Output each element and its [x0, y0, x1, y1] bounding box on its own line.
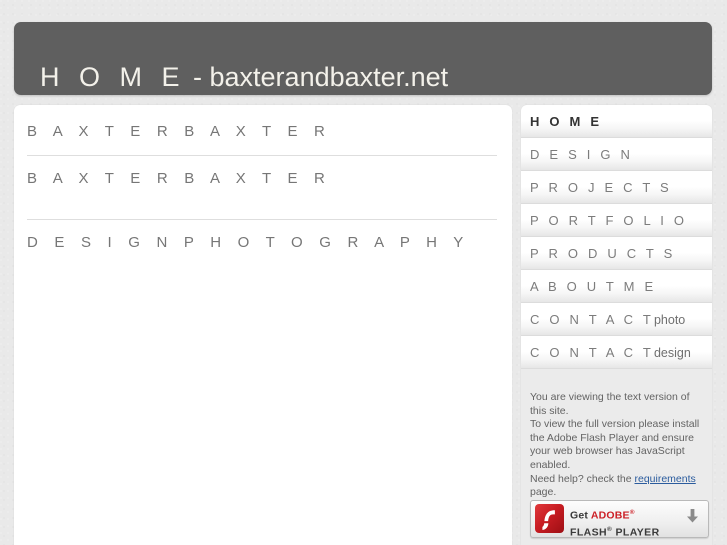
content-heading-1: B A X T E R B A X T E R [27, 123, 331, 140]
text-version-notice: You are viewing the text version of this… [521, 381, 712, 500]
sidebar-item-suffix: photo [654, 313, 685, 327]
requirements-link[interactable]: requirements [635, 473, 696, 485]
sidebar: H O M E D E S I G N P R O J E C T S P O … [521, 105, 712, 545]
sidebar-item-label: C O N T A C T [530, 345, 654, 360]
registered-mark: ® [630, 509, 635, 516]
sidebar-item-portfolio[interactable]: P O R T F O L I O [521, 204, 712, 237]
notice-help-prefix: Need help? check the [530, 473, 635, 485]
main-content-panel: B A X T E R B A X T E R B A X T E R B A … [14, 105, 512, 545]
page-title-domain: - baxterandbaxter.net [186, 62, 449, 92]
sidebar-item-label: D E S I G N [530, 147, 633, 162]
flash-badge-line-2: FLASH® PLAYER [570, 523, 660, 539]
get-word: Get [570, 510, 591, 522]
flash-badge-text: Get ADOBE® FLASH® PLAYER [570, 506, 660, 538]
page-title-spaced: H O M E [40, 62, 186, 92]
sidebar-item-home[interactable]: H O M E [521, 105, 712, 138]
adobe-word: ADOBE [591, 510, 630, 522]
sidebar-item-label: A B O U T M E [530, 279, 656, 294]
sidebar-item-suffix: design [654, 346, 691, 360]
download-arrow-icon [687, 509, 698, 523]
sidebar-item-contact-design[interactable]: C O N T A C Tdesign [521, 336, 712, 369]
notice-line-3: Need help? check the requirements page. [530, 473, 700, 500]
flash-badge-line-1: Get ADOBE® [570, 506, 660, 523]
content-heading-2: B A X T E R B A X T E R [27, 170, 331, 187]
player-word: PLAYER [612, 526, 659, 538]
sidebar-item-label: C O N T A C T [530, 312, 654, 327]
sidebar-item-label: H O M E [530, 114, 602, 129]
flash-word: FLASH [570, 526, 607, 538]
sidebar-item-design[interactable]: D E S I G N [521, 138, 712, 171]
sidebar-item-label: P O R T F O L I O [530, 213, 687, 228]
sidebar-item-label: P R O J E C T S [530, 180, 672, 195]
content-divider [27, 155, 497, 156]
flash-f-glyph [535, 504, 564, 533]
sidebar-item-contact-photo[interactable]: C O N T A C Tphoto [521, 303, 712, 336]
sidebar-item-label: P R O D U C T S [530, 246, 676, 261]
content-heading-3: D E S I G N P H O T O G R A P H Y [27, 234, 469, 251]
notice-line-1: You are viewing the text version of this… [530, 391, 700, 418]
sidebar-item-products[interactable]: P R O D U C T S [521, 237, 712, 270]
site-header: H O M E - baxterandbaxter.net [14, 22, 712, 95]
sidebar-item-projects[interactable]: P R O J E C T S [521, 171, 712, 204]
flash-f-logo-icon [535, 504, 564, 533]
sidebar-item-aboutme[interactable]: A B O U T M E [521, 270, 712, 303]
get-adobe-flash-player-button[interactable]: Get ADOBE® FLASH® PLAYER [530, 500, 709, 538]
notice-line-2: To view the full version please install … [530, 418, 700, 472]
content-divider [27, 219, 497, 220]
notice-help-suffix: page. [530, 486, 556, 498]
page-title: H O M E - baxterandbaxter.net [40, 62, 448, 93]
